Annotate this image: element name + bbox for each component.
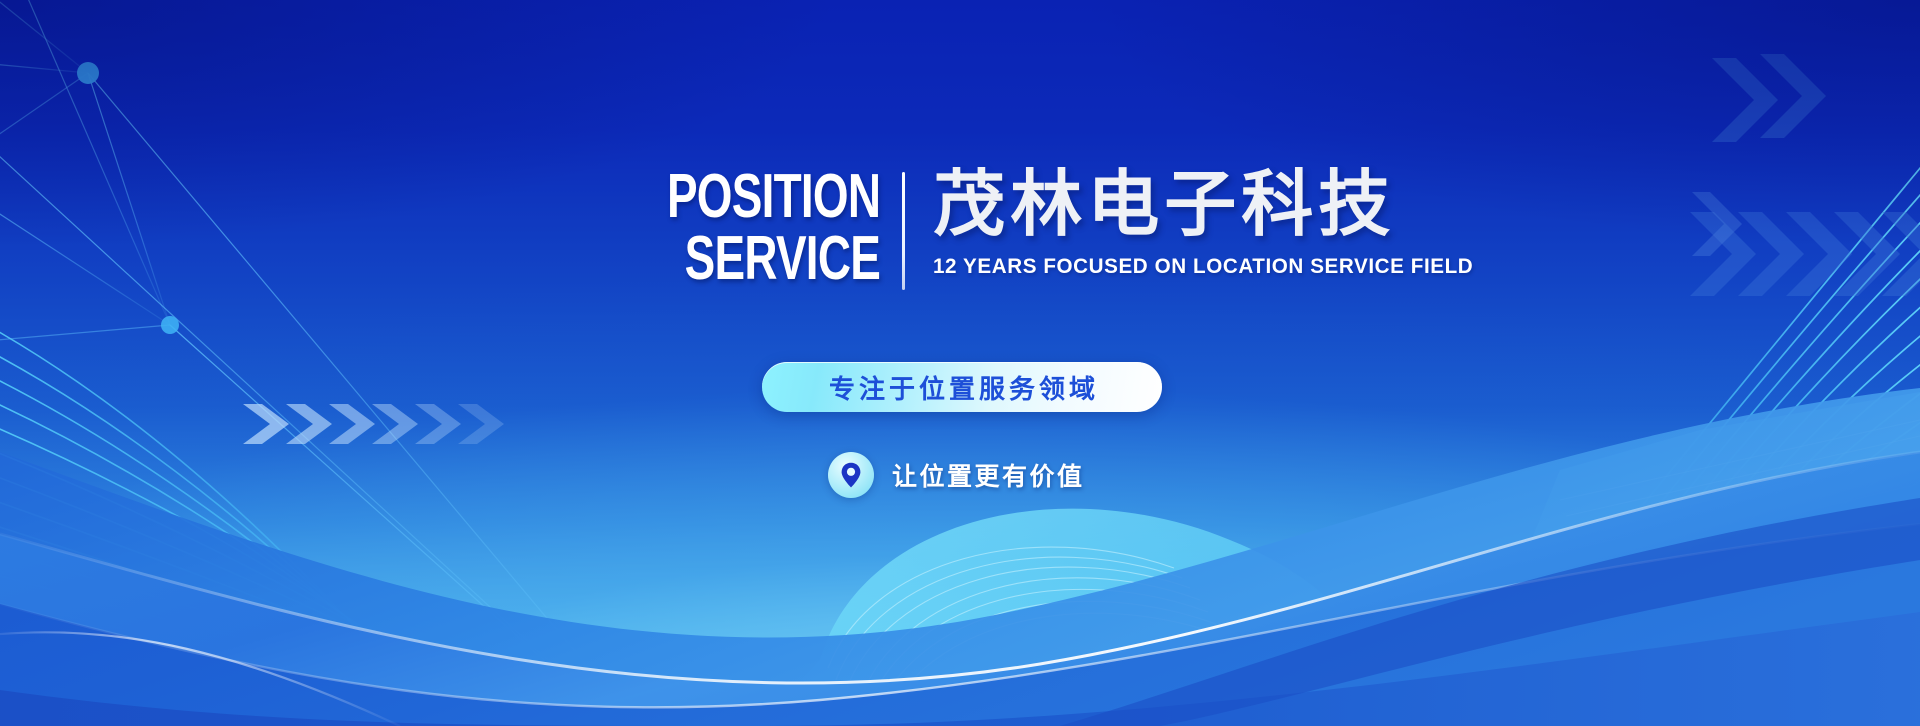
hero-banner: POSITION SERVICE 茂林电子科技 12 YEARS FOCUSED… (0, 0, 1920, 726)
slogan-row: 让位置更有价值 (828, 452, 1085, 498)
company-name-title: 茂林电子科技 (933, 168, 1496, 240)
english-title-line-2: SERVICE (685, 230, 880, 288)
focus-area-pill[interactable]: 专注于位置服务领域 (762, 362, 1162, 412)
english-title-line-1: POSITION (667, 168, 880, 226)
english-tagline: 12 YEARS FOCUSED ON LOCATION SERVICE FIE… (933, 254, 1473, 279)
map-pin-icon (828, 452, 874, 498)
chinese-title-stack: 茂林电子科技 12 YEARS FOCUSED ON LOCATION SERV… (905, 168, 1496, 279)
slogan-label: 让位置更有价值 (892, 457, 1085, 493)
headline-block: POSITION SERVICE 茂林电子科技 12 YEARS FOCUSED… (592, 168, 1496, 290)
focus-area-pill-label: 专注于位置服务领域 (825, 369, 1099, 406)
english-title-stack: POSITION SERVICE (592, 168, 902, 287)
